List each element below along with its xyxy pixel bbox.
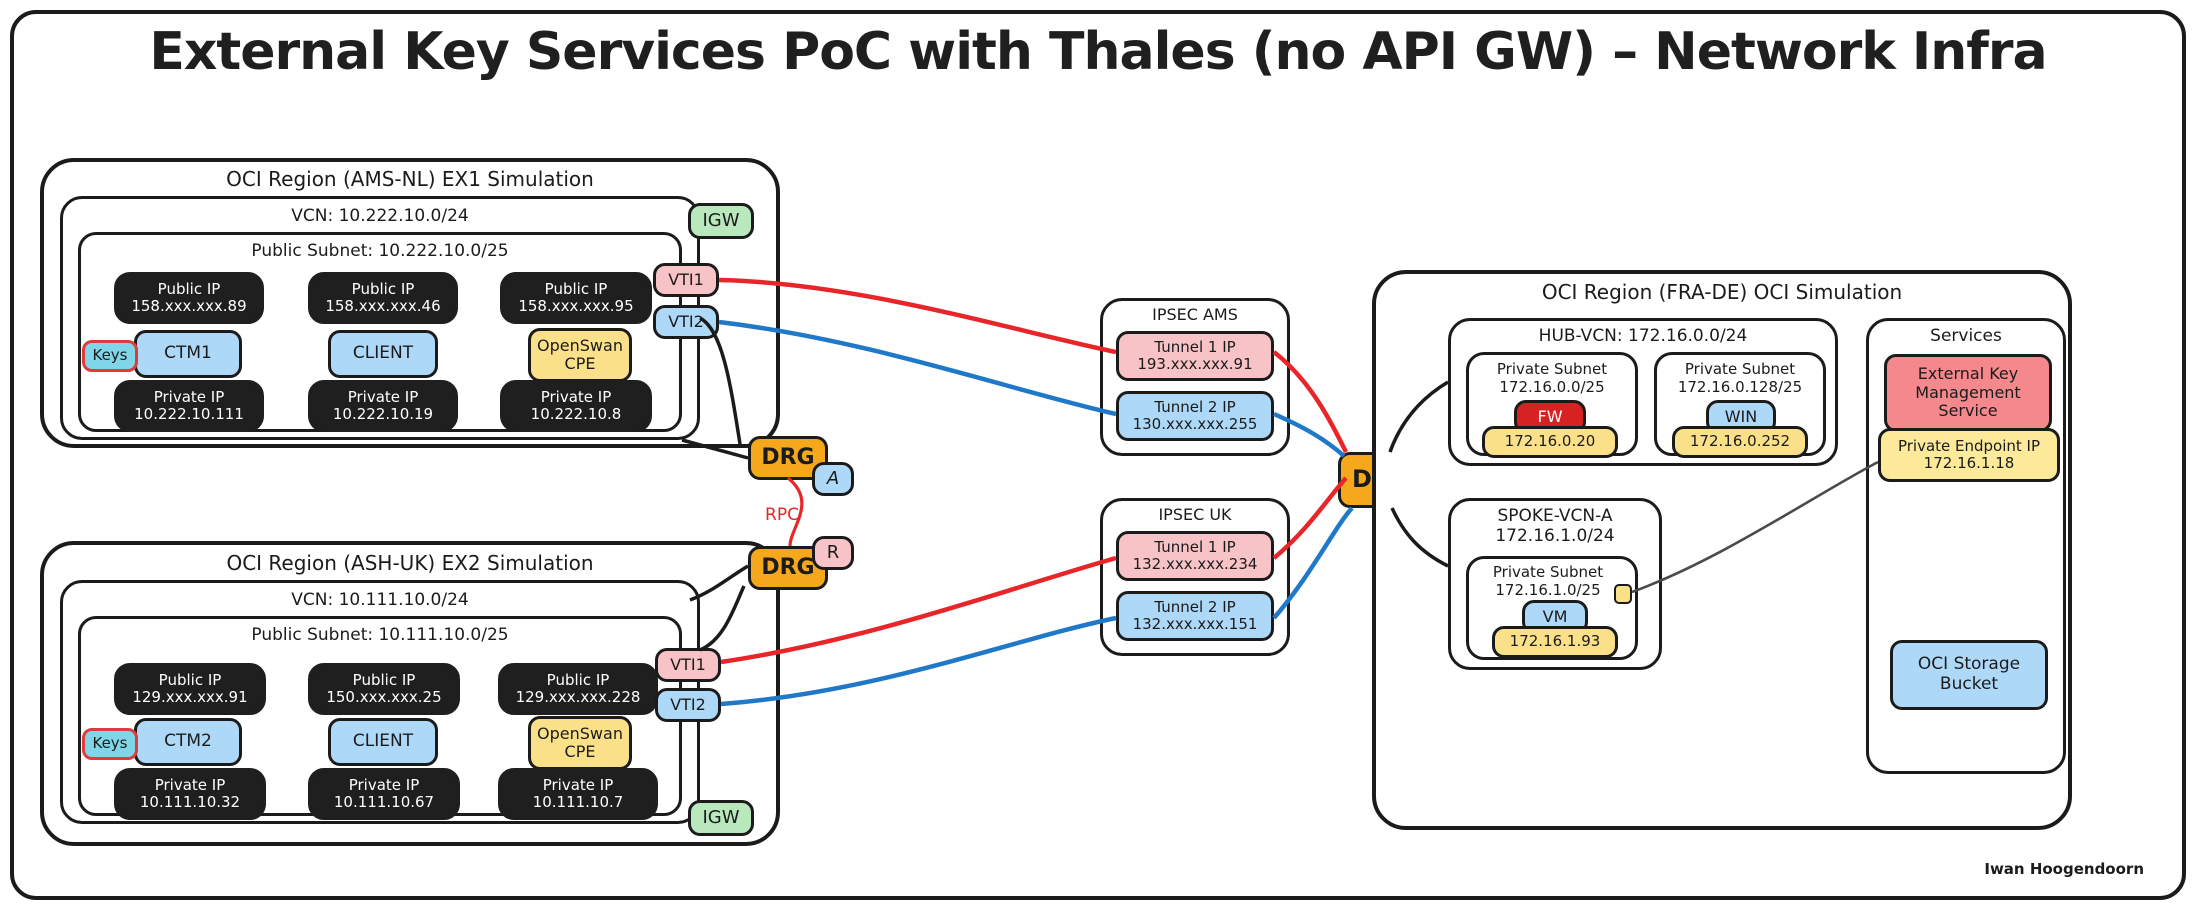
ex1-host3-public-value: 158.xxx.xxx.95	[518, 297, 633, 315]
ex2-vti2[interactable]: VTI2	[655, 688, 721, 722]
ex2-host2-node[interactable]: CLIENT	[328, 718, 438, 766]
ex1-host2-private-label: Private IP	[348, 388, 419, 406]
ex1-host3-private-value: 10.222.10.8	[531, 405, 622, 423]
ex2-host1-private-value: 10.111.10.32	[140, 793, 240, 811]
ex2-public-subnet-label: Public Subnet: 10.111.10.0/25	[78, 625, 682, 645]
ipsec-uk-tunnel2-ip: 132.xxx.xxx.151	[1133, 615, 1258, 633]
ex1-host1-private-value: 10.222.10.111	[134, 405, 244, 423]
ipsec-uk-tunnel1-label: Tunnel 1 IP	[1154, 538, 1235, 556]
ex1-vti1[interactable]: VTI1	[653, 263, 719, 297]
spoke-node-ip: 172.16.1.93	[1492, 626, 1618, 658]
ex1-host2-public-label: Public IP	[352, 280, 415, 298]
rpc-label: RPC	[752, 505, 812, 525]
hub-subnet-1-name: Private Subnet	[1497, 360, 1607, 378]
ex2-host1-private-label: Private IP	[155, 776, 226, 794]
ipsec-uk-title: IPSEC UK	[1100, 505, 1290, 524]
ipsec-ams-title: IPSEC AMS	[1100, 305, 1290, 324]
ex1-keys[interactable]: Keys	[82, 340, 138, 372]
ex2-host3-private-value: 10.111.10.7	[533, 793, 624, 811]
diagram-canvas: External Key Services PoC with Thales (n…	[0, 0, 2196, 910]
region-ex2-title: OCI Region (ASH-UK) EX2 Simulation	[40, 551, 780, 575]
oci-storage-bucket-label: OCI Storage Bucket	[1893, 655, 2045, 694]
hub-subnet-2-node-ip: 172.16.0.252	[1672, 426, 1808, 458]
ex1-public-subnet-label: Public Subnet: 10.222.10.0/25	[78, 241, 682, 261]
ex2-host1-node[interactable]: CTM2	[134, 718, 242, 766]
spoke-vcn-cidr: 172.16.1.0/24	[1495, 526, 1614, 546]
ex1-host3-node[interactable]: OpenSwan CPE	[528, 328, 632, 382]
ekms-endpoint: Private Endpoint IP172.16.1.18	[1878, 428, 2060, 482]
ex1-vti2[interactable]: VTI2	[653, 305, 719, 339]
ex1-host3-public-ip: Public IP158.xxx.xxx.95	[500, 272, 652, 324]
ex2-host1-private-ip: Private IP10.111.10.32	[114, 768, 266, 820]
spoke-subnet-cidr: 172.16.1.0/25	[1495, 581, 1600, 599]
region-fra-title: OCI Region (FRA-DE) OCI Simulation	[1372, 280, 2072, 304]
hub-subnet-1-label: Private Subnet 172.16.0.0/25	[1466, 360, 1638, 396]
ekms-endpoint-ip: 172.16.1.18	[1924, 454, 2015, 472]
ex1-host2-node[interactable]: CLIENT	[328, 330, 438, 378]
ex1-host3-private-ip: Private IP10.222.10.8	[500, 380, 652, 432]
ipsec-ams-tunnel1-label: Tunnel 1 IP	[1154, 338, 1235, 356]
services-title: Services	[1866, 326, 2066, 346]
hub-subnet-2-name: Private Subnet	[1685, 360, 1795, 378]
ex1-host1-node[interactable]: CTM1	[134, 330, 242, 378]
hub-subnet-1-node-ip: 172.16.0.20	[1482, 426, 1618, 458]
spoke-endpoint-dot-icon	[1614, 584, 1632, 604]
ex2-host2-private-value: 10.111.10.67	[334, 793, 434, 811]
ekms-endpoint-label: Private Endpoint IP	[1898, 437, 2040, 455]
ex1-host1-public-value: 158.xxx.xxx.89	[131, 297, 246, 315]
ex2-host3-public-ip: Public IP129.xxx.xxx.228	[498, 663, 658, 715]
ex2-vti1[interactable]: VTI1	[655, 648, 721, 682]
ex2-host1-public-value: 129.xxx.xxx.91	[132, 688, 247, 706]
ex2-host3-public-value: 129.xxx.xxx.228	[516, 688, 641, 706]
ex2-host1-public-label: Public IP	[159, 671, 222, 689]
ex2-host2-public-label: Public IP	[353, 671, 416, 689]
ex2-host1-public-ip: Public IP129.xxx.xxx.91	[114, 663, 266, 715]
ex1-host2-public-ip: Public IP158.xxx.xxx.46	[308, 272, 458, 324]
ipsec-uk-tunnel1: Tunnel 1 IP132.xxx.xxx.234	[1116, 531, 1274, 581]
ex2-igw[interactable]: IGW	[688, 800, 754, 836]
ipsec-ams-tunnel2: Tunnel 2 IP130.xxx.xxx.255	[1116, 391, 1274, 441]
ex1-host2-public-value: 158.xxx.xxx.46	[325, 297, 440, 315]
hub-subnet-2-cidr: 172.16.0.128/25	[1678, 378, 1802, 396]
drg-ex1-acceptor[interactable]: A	[812, 462, 854, 496]
ex2-host2-private-ip: Private IP10.111.10.67	[308, 768, 460, 820]
ekms-node[interactable]: External Key Management Service	[1884, 354, 2052, 432]
ipsec-ams-tunnel1-ip: 193.xxx.xxx.91	[1137, 355, 1252, 373]
region-ex1-title: OCI Region (AMS-NL) EX1 Simulation	[40, 167, 780, 191]
spoke-subnet-name: Private Subnet	[1493, 563, 1603, 581]
page-title: External Key Services PoC with Thales (n…	[0, 22, 2196, 82]
hub-subnet-2-label: Private Subnet 172.16.0.128/25	[1654, 360, 1826, 396]
ex2-host2-private-label: Private IP	[349, 776, 420, 794]
ipsec-ams-tunnel2-label: Tunnel 2 IP	[1154, 398, 1235, 416]
ex2-host2-public-ip: Public IP150.xxx.xxx.25	[308, 663, 460, 715]
hub-subnet-1-cidr: 172.16.0.0/25	[1499, 378, 1604, 396]
spoke-subnet-label: Private Subnet 172.16.1.0/25	[1462, 563, 1634, 599]
ekms-label: External Key Management Service	[1887, 365, 2049, 420]
ex1-host1-public-ip: Public IP158.xxx.xxx.89	[114, 272, 264, 324]
ex2-vcn-label: VCN: 10.111.10.0/24	[60, 590, 700, 610]
ex1-host3-public-label: Public IP	[545, 280, 608, 298]
ex1-host2-private-ip: Private IP10.222.10.19	[308, 380, 458, 432]
author-signature: Iwan Hoogendoorn	[1984, 860, 2144, 878]
ex2-host2-public-value: 150.xxx.xxx.25	[326, 688, 441, 706]
spoke-vcn-title: SPOKE-VCN-A 172.16.1.0/24	[1448, 506, 1662, 546]
ex1-host1-private-label: Private IP	[154, 388, 225, 406]
ipsec-uk-tunnel2: Tunnel 2 IP132.xxx.xxx.151	[1116, 591, 1274, 641]
ex1-igw[interactable]: IGW	[688, 203, 754, 239]
ipsec-uk-tunnel2-label: Tunnel 2 IP	[1154, 598, 1235, 616]
ex1-host1-public-label: Public IP	[158, 280, 221, 298]
ex1-host3-node-label: OpenSwan CPE	[531, 337, 629, 374]
ex1-host3-private-label: Private IP	[541, 388, 612, 406]
drg-ex2-requestor[interactable]: R	[812, 536, 854, 570]
spoke-vcn-name: SPOKE-VCN-A	[1497, 506, 1612, 526]
ipsec-ams-tunnel2-ip: 130.xxx.xxx.255	[1133, 415, 1258, 433]
ex2-host3-node[interactable]: OpenSwan CPE	[528, 716, 632, 770]
ipsec-uk-tunnel1-ip: 132.xxx.xxx.234	[1133, 555, 1258, 573]
ex2-host3-public-label: Public IP	[547, 671, 610, 689]
ex1-host2-private-value: 10.222.10.19	[333, 405, 433, 423]
oci-storage-bucket[interactable]: OCI Storage Bucket	[1890, 640, 2048, 710]
hub-vcn-title: HUB-VCN: 172.16.0.0/24	[1448, 326, 1838, 346]
ex2-keys[interactable]: Keys	[82, 728, 138, 760]
ex1-vcn-label: VCN: 10.222.10.0/24	[60, 206, 700, 226]
ex2-host3-private-label: Private IP	[543, 776, 614, 794]
ex2-host3-node-label: OpenSwan CPE	[531, 725, 629, 762]
ex2-host3-private-ip: Private IP10.111.10.7	[498, 768, 658, 820]
ipsec-ams-tunnel1: Tunnel 1 IP193.xxx.xxx.91	[1116, 331, 1274, 381]
ex1-host1-private-ip: Private IP10.222.10.111	[114, 380, 264, 432]
